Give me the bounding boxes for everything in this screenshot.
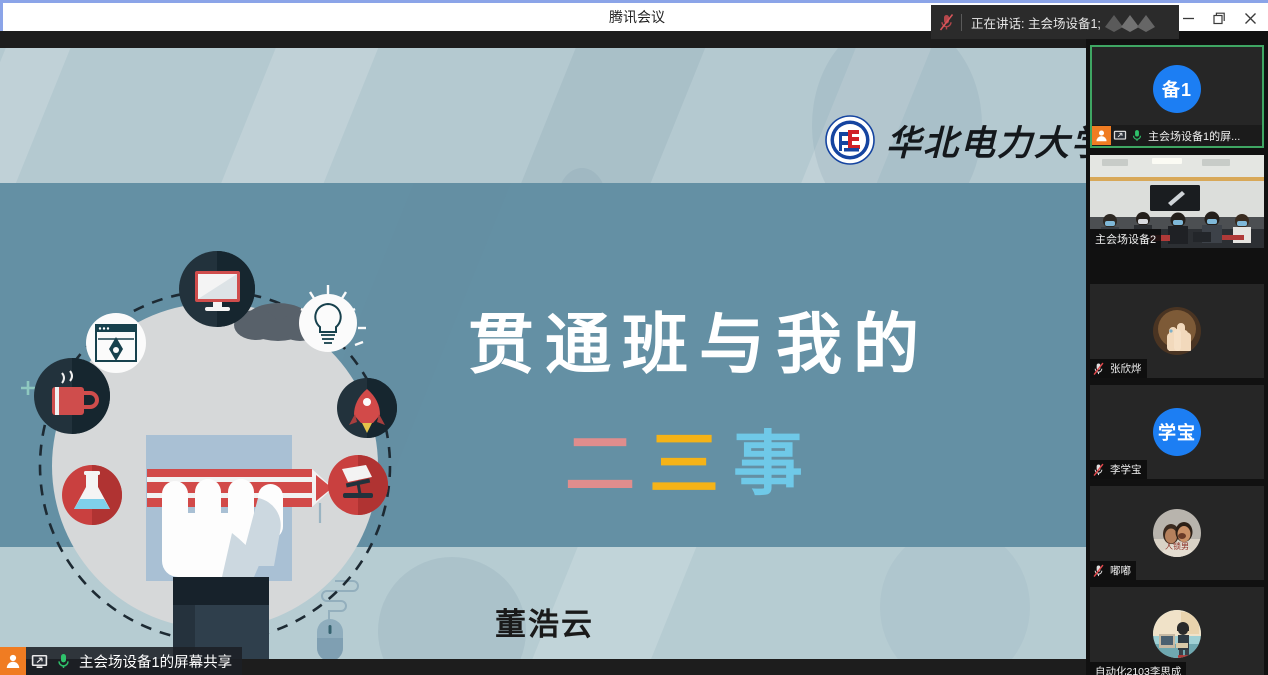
avatar: 备1	[1153, 65, 1201, 113]
participant-label-1: 主会场设备2	[1095, 231, 1156, 247]
participant-tile-0[interactable]: 备1	[1090, 45, 1264, 148]
participant-tile-3[interactable]: 学宝 李学宝	[1090, 385, 1264, 479]
banner-divider	[961, 14, 962, 31]
microphone-muted-icon	[1090, 561, 1107, 580]
participant-tile-1[interactable]: 主会场设备2	[1090, 155, 1264, 248]
pen-tool-icon	[86, 313, 146, 373]
monitor-icon	[179, 251, 255, 327]
participant-footer-4: 嘟嘟	[1090, 561, 1136, 580]
avatar	[1153, 610, 1201, 658]
university-emblem-icon	[824, 114, 876, 166]
participant-tile-5[interactable]: 自动化2103李思成	[1090, 587, 1264, 675]
close-button[interactable]	[1235, 3, 1266, 33]
participant-label-2: 张欣烨	[1110, 361, 1142, 376]
avatar	[1153, 307, 1201, 355]
screen-share-icon	[1111, 126, 1128, 145]
audio-wave-icon	[1103, 11, 1165, 33]
active-speaker-banner: 正在讲话: 主会场设备1;	[931, 5, 1179, 39]
university-logo: 华北电力大学	[824, 114, 1086, 166]
host-badge-icon	[0, 647, 26, 675]
participant-footer-5: 自动化2103李思成	[1090, 662, 1186, 675]
restore-button[interactable]	[1204, 3, 1235, 33]
screen-share-status-inner: 主会场设备1的屏幕共享	[0, 647, 242, 675]
screen-share-status-bar: 主会场设备1的屏幕共享	[0, 647, 1086, 675]
microphone-icon	[1128, 126, 1145, 145]
participant-label-4: 嘟嘟	[1110, 563, 1131, 578]
presenter-name: 董浩云	[495, 599, 594, 644]
avatar: 学宝	[1153, 408, 1201, 456]
participant-label-5: 自动化2103李思成	[1095, 664, 1181, 675]
presentation-slide: 华北电力大学 贯通班与我的 二三事 董浩云 2022.7.13	[0, 48, 1086, 659]
slide-title-char-1: 二	[565, 427, 649, 504]
flask-icon	[62, 465, 122, 525]
hero-illustration	[10, 203, 440, 659]
microphone-icon	[52, 647, 74, 675]
slide-title-char-3: 事	[733, 427, 817, 504]
slide-title-line1: 贯通班与我的	[468, 291, 930, 387]
tencent-meeting-window: 腾讯会议	[0, 0, 1268, 675]
active-speaker-label: 正在讲话: 主会场设备1;	[971, 13, 1101, 32]
participant-footer-3: 李学宝	[1090, 460, 1147, 479]
screen-share-status-label: 主会场设备1的屏幕共享	[79, 651, 232, 672]
screen-share-icon	[28, 647, 50, 675]
participant-footer-0: 主会场设备1的屏...	[1092, 125, 1264, 146]
participant-rail[interactable]: 备1	[1086, 31, 1268, 675]
microphone-muted-icon	[931, 5, 961, 39]
participant-label-3: 李学宝	[1110, 462, 1142, 477]
shared-screen-area[interactable]: 华北电力大学 贯通班与我的 二三事 董浩云 2022.7.13	[0, 31, 1086, 675]
minimize-button[interactable]	[1173, 3, 1204, 33]
participant-label-0: 主会场设备1的屏...	[1148, 128, 1240, 144]
slide-title-char-2: 三	[649, 427, 733, 504]
host-badge-icon	[1092, 126, 1111, 145]
lightbulb-icon	[299, 285, 366, 352]
microphone-muted-icon	[1090, 359, 1107, 378]
slide-title-line2: 二三事	[565, 408, 817, 509]
desk-lamp-icon	[328, 455, 388, 515]
university-name: 华北电力大学	[886, 115, 1086, 166]
coffee-cup-icon	[34, 358, 110, 434]
window-controls	[1173, 3, 1266, 33]
rocket-icon	[337, 378, 397, 438]
avatar: 人锁男	[1153, 509, 1201, 557]
participant-tile-2[interactable]: 张欣烨	[1090, 284, 1264, 378]
participant-footer-2: 张欣烨	[1090, 359, 1147, 378]
participant-tile-4[interactable]: 人锁男 嘟嘟	[1090, 486, 1264, 580]
participant-footer-1: 主会场设备2	[1090, 229, 1161, 248]
microphone-muted-icon	[1090, 460, 1107, 479]
svg-text:人锁男: 人锁男	[1165, 541, 1189, 551]
